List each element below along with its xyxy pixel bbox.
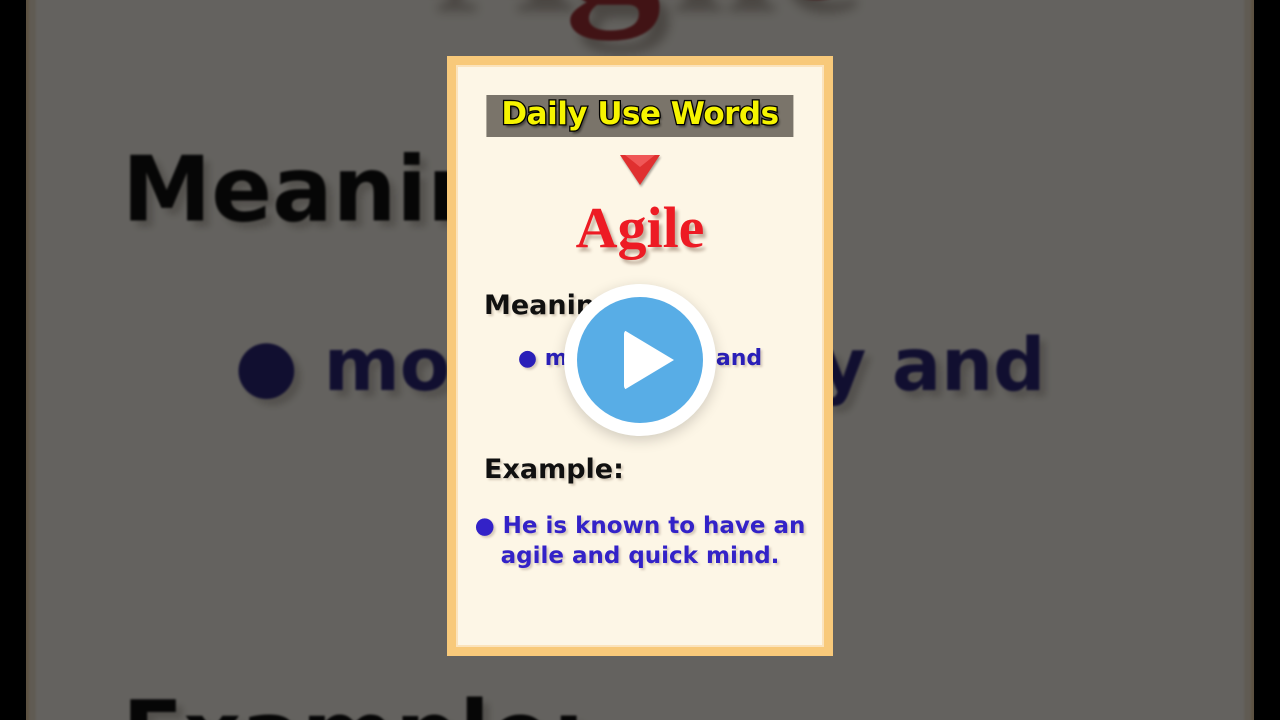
- banner-title: Daily Use Words: [501, 98, 778, 131]
- headword: Agile: [458, 199, 822, 257]
- example-label: Example:: [484, 455, 624, 485]
- background-example-label: Example:: [122, 689, 586, 720]
- letterbox-bar-left: [0, 0, 26, 720]
- example-text: ● He is known to have an agile and quick…: [458, 511, 822, 572]
- down-arrow-icon: [620, 155, 660, 189]
- title-banner: Daily Use Words: [486, 95, 793, 137]
- letterbox-bar-right: [1254, 0, 1280, 720]
- play-button[interactable]: [564, 284, 716, 436]
- down-arrow-highlight: [625, 155, 655, 167]
- play-icon: [624, 330, 674, 390]
- background-word: Agile: [36, 0, 1244, 31]
- video-player-stage: Daily Use Words Agile Meaning: ● move qu…: [0, 0, 1280, 720]
